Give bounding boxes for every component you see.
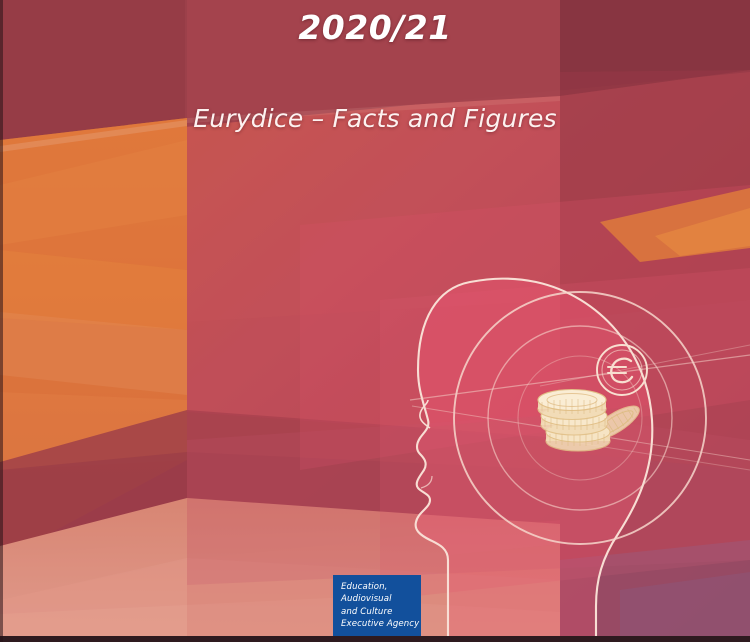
report-cover-page: 2020/21 Eurydice – Facts and Figures Edu… [0, 0, 750, 642]
eacea-logo-line-4: Executive Agency [341, 618, 417, 630]
eacea-logo: Education, Audiovisual and Culture Execu… [333, 575, 421, 637]
eacea-logo-line-3: and Culture [341, 606, 417, 618]
bottom-border [0, 636, 750, 642]
eacea-logo-text: Education, Audiovisual and Culture Execu… [341, 581, 417, 630]
left-border [0, 0, 3, 642]
eacea-logo-line-1: Education, [341, 581, 417, 593]
head-illustration [0, 0, 750, 642]
eacea-logo-line-2: Audiovisual [341, 593, 417, 605]
